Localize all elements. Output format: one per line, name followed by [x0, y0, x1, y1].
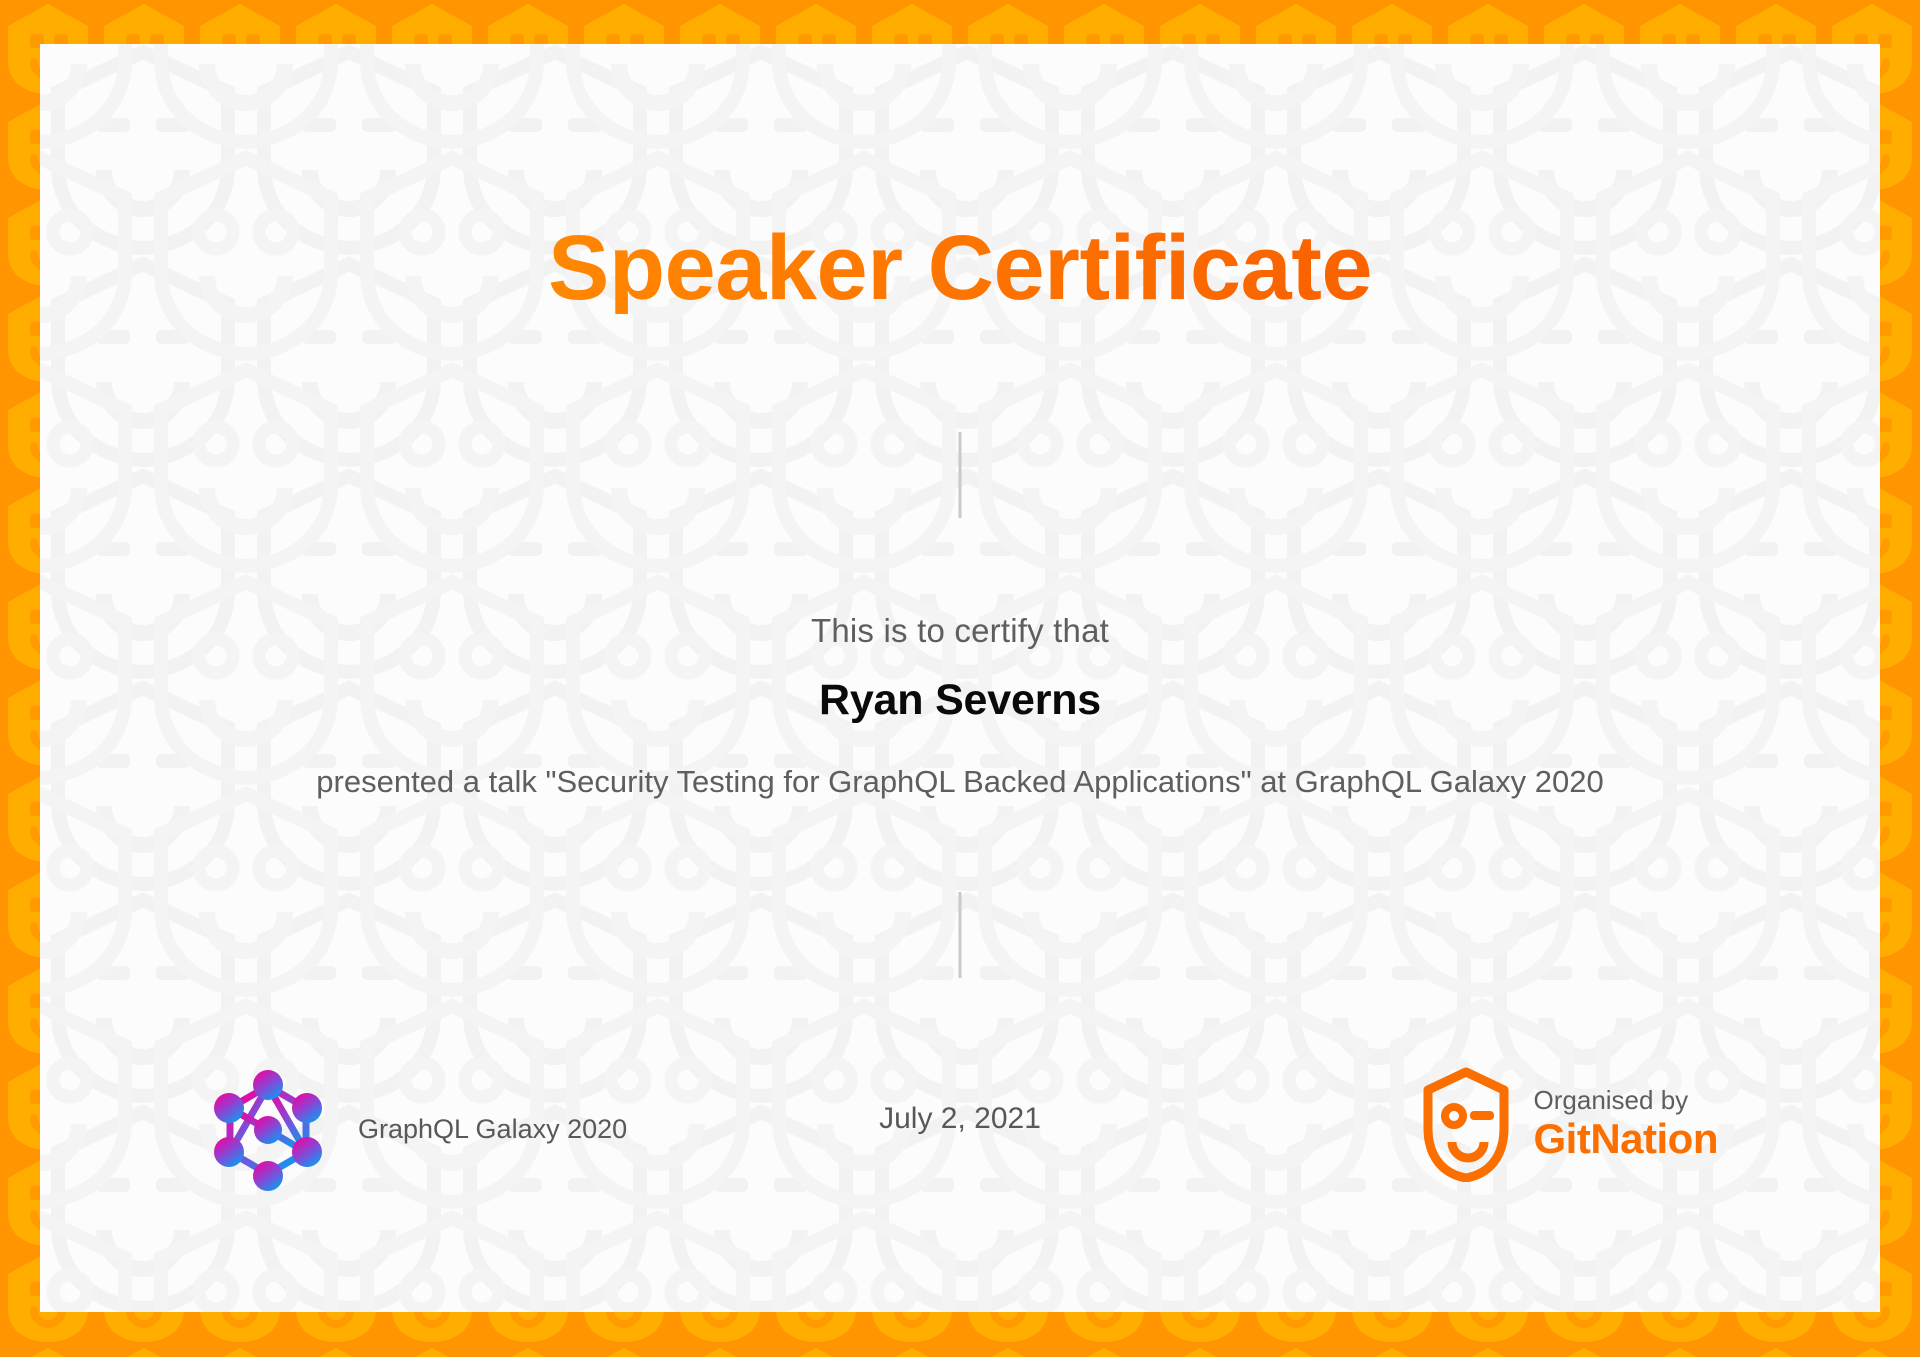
- divider-bottom: [959, 892, 962, 978]
- certificate-card: Speaker Certificate This is to certify t…: [40, 44, 1880, 1312]
- talk-statement: presented a talk "Security Testing for G…: [220, 756, 1700, 808]
- divider-top: [959, 432, 962, 518]
- certify-line: This is to certify that: [40, 612, 1880, 650]
- recipient-name: Ryan Severns: [40, 676, 1880, 725]
- certificate: Speaker Certificate This is to certify t…: [0, 0, 1920, 1357]
- organiser-prefix: Organised by: [1534, 1086, 1718, 1115]
- organiser-name: GitNation: [1534, 1115, 1718, 1162]
- page-title: Speaker Certificate: [40, 222, 1880, 314]
- gitnation-shield-logo: [1420, 1066, 1512, 1182]
- organiser-branding: Organised by GitNation: [1420, 1066, 1718, 1182]
